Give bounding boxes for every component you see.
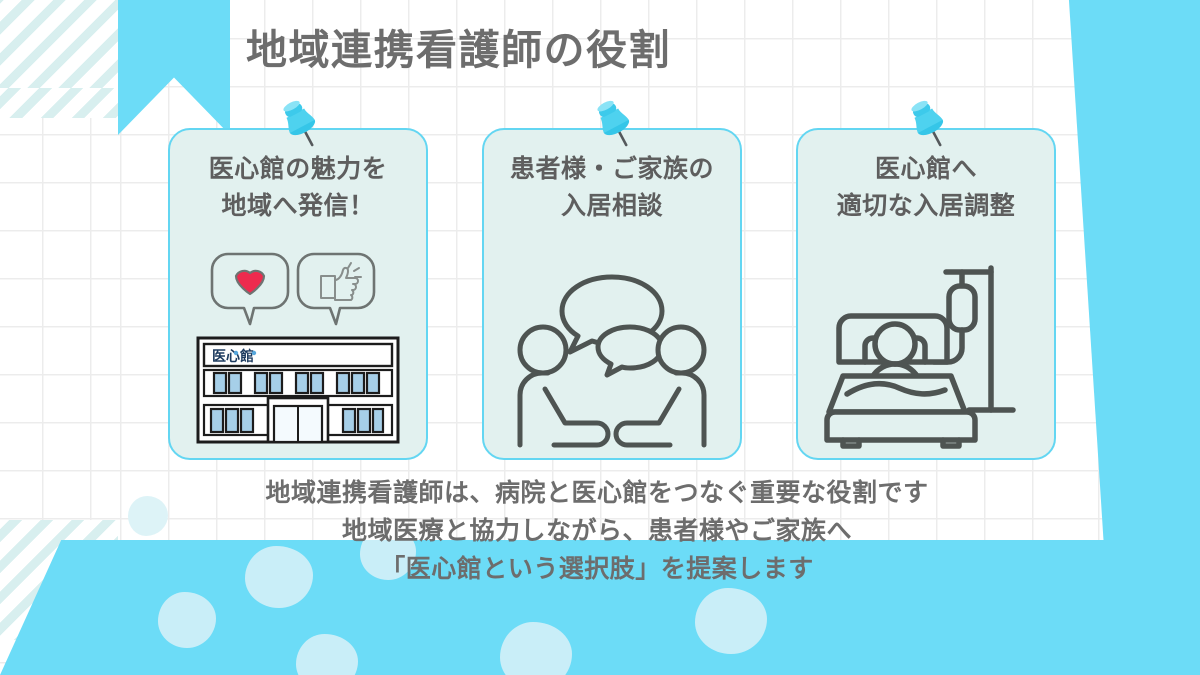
heart-icon [236, 271, 264, 294]
page-title: 地域連携看護師の役割 [246, 16, 671, 76]
iv-bag-icon [949, 286, 975, 330]
card-title-line: 患者様・ご家族の [484, 150, 740, 187]
patient-in-bed-with-iv-icon [821, 260, 1031, 450]
two-people-conversation-icon [502, 265, 722, 450]
person-left [520, 327, 608, 445]
card-resident-consultation[interactable]: 患者様・ご家族の 入居相談 [482, 128, 742, 460]
speech-bubble-small [598, 327, 662, 375]
card-title-line: 適切な入居調整 [798, 187, 1054, 224]
pushpin-icon [900, 96, 956, 152]
card-title-line: 入居相談 [484, 187, 740, 224]
pushpin-icon [586, 96, 642, 152]
building-with-speech-bubbles-icon: 医心館 [178, 240, 418, 450]
card-illustration [798, 260, 1054, 450]
card-illustration: 医心館 [170, 240, 426, 450]
card-publicize-appeal[interactable]: 医心館の魅力を 地域へ発信！ [168, 128, 428, 460]
card-admission-coordination[interactable]: 医心館へ 適切な入居調整 [796, 128, 1056, 460]
decorative-blob [296, 634, 358, 675]
pushpin-icon [272, 96, 328, 152]
card-title-line: 医心館へ [798, 150, 1054, 187]
card-title: 医心館の魅力を 地域へ発信！ [170, 150, 426, 224]
card-title: 患者様・ご家族の 入居相談 [484, 150, 740, 224]
card-illustration [484, 265, 740, 450]
building-icon: 医心館 [198, 338, 398, 442]
decorative-blob [695, 588, 767, 654]
caption-line: 「医心館という選択肢」を提案します [118, 550, 1076, 588]
decorative-blob [500, 622, 572, 675]
card-title-line: 医心館の魅力を [170, 150, 426, 187]
card-title-line: 地域へ発信！ [170, 187, 426, 224]
building-sign-label: 医心館 [212, 348, 254, 365]
caption-line: 地域医療と協力しながら、患者様やご家族へ [118, 512, 1076, 550]
decorative-blob [158, 592, 216, 648]
card-title: 医心館へ 適切な入居調整 [798, 150, 1054, 224]
slide-root: 地域連携看護師の役割 医心館の魅力を 地域へ発信！ [0, 0, 1200, 675]
caption-line: 地域連携看護師は、病院と医心館をつなぐ重要な役割です [118, 474, 1076, 512]
caption-block: 地域連携看護師は、病院と医心館をつなぐ重要な役割です 地域医療と協力しながら、患… [118, 474, 1076, 588]
thumbs-up-icon [321, 263, 361, 300]
